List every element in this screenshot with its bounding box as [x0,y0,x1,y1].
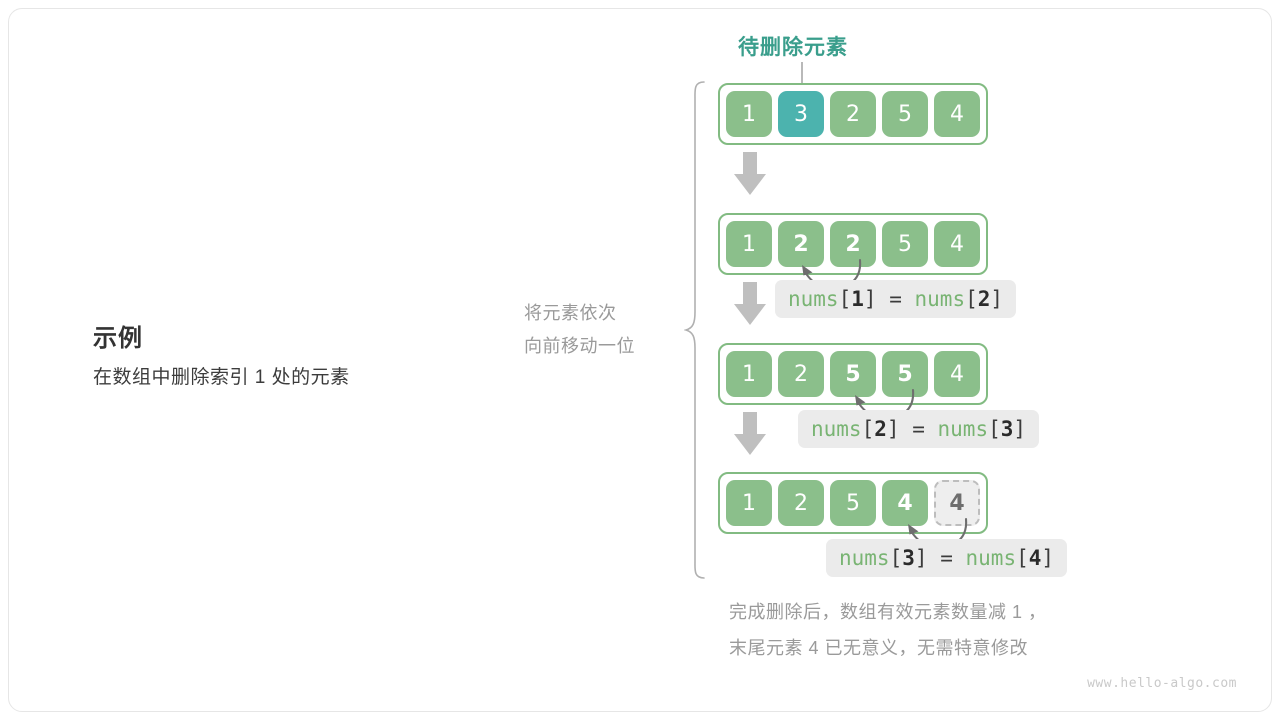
footer-note: 完成删除后，数组有效元素数量减 1 ， 末尾元素 4 已无意义，无需特意修改 [729,594,1047,666]
array-cell-written[interactable]: 4 [882,480,928,526]
code-name-token: nums [788,287,839,311]
code-name-token: nums [938,417,989,441]
code-name-token: nums [839,546,890,570]
shift-annotation-line1: 将元素依次 [524,297,684,330]
array-cell[interactable]: 2 [830,91,876,137]
down-arrow-icon [733,412,767,456]
code-rhs-index: 2 [978,287,991,311]
down-arrow-icon [733,282,767,326]
code-name-token: nums [811,417,862,441]
watermark: www.hello-algo.com [1087,676,1237,691]
array-row-step-3: 1 2 5 4 4 [718,472,988,534]
array-cell[interactable]: 5 [882,221,928,267]
array-cell[interactable]: 2 [778,480,824,526]
code-rhs-index: 4 [1029,546,1042,570]
array-cell-written[interactable]: 2 [778,221,824,267]
array-cell-source[interactable]: 2 [830,221,876,267]
array-cell[interactable]: 1 [726,480,772,526]
array-cell[interactable]: 1 [726,91,772,137]
code-lhs-index: 1 [851,287,864,311]
shift-annotation: 将元素依次 向前移动一位 [524,297,684,363]
code-lhs-index: 2 [874,417,887,441]
code-lhs-index: 3 [902,546,915,570]
array-cell-written[interactable]: 5 [830,351,876,397]
down-arrow-icon [733,152,767,196]
array-cell[interactable]: 4 [934,91,980,137]
array-cell[interactable]: 4 [934,221,980,267]
footer-note-line1: 完成删除后，数组有效元素数量减 1 ， [729,594,1047,630]
array-cell[interactable]: 1 [726,221,772,267]
example-subtitle: 在数组中删除索引 1 处的元素 [93,362,513,394]
array-row-step-1: 1 2 2 5 4 [718,213,988,275]
footer-note-line2: 末尾元素 4 已无意义，无需特意修改 [729,630,1047,666]
code-chip-assign-1: nums[1] = nums[2] [775,280,1016,318]
shift-annotation-line2: 向前移动一位 [524,330,684,363]
array-cell[interactable]: 1 [726,351,772,397]
curly-brace-icon [684,80,706,580]
array-cell[interactable]: 4 [934,351,980,397]
array-cell-stale[interactable]: 4 [934,480,980,526]
array-cell-source[interactable]: 5 [882,351,928,397]
code-chip-assign-3: nums[3] = nums[4] [826,539,1067,577]
code-operator: = [912,417,925,441]
array-cell-target[interactable]: 3 [778,91,824,137]
array-cell[interactable]: 2 [778,351,824,397]
page-title: 待删除元素 [738,31,848,61]
code-rhs-index: 3 [1001,417,1014,441]
code-chip-assign-2: nums[2] = nums[3] [798,410,1039,448]
example-title: 示例 [93,322,513,356]
code-name-token: nums [966,546,1017,570]
diagram-stage: 示例 在数组中删除索引 1 处的元素 将元素依次 向前移动一位 待删除元素 1 … [0,0,1280,720]
array-cell[interactable]: 5 [830,480,876,526]
code-operator: = [889,287,902,311]
code-name-token: nums [915,287,966,311]
array-cell[interactable]: 5 [882,91,928,137]
array-row-initial: 1 3 2 5 4 [718,83,988,145]
code-operator: = [940,546,953,570]
example-description: 示例 在数组中删除索引 1 处的元素 [93,322,513,394]
array-row-step-2: 1 2 5 5 4 [718,343,988,405]
